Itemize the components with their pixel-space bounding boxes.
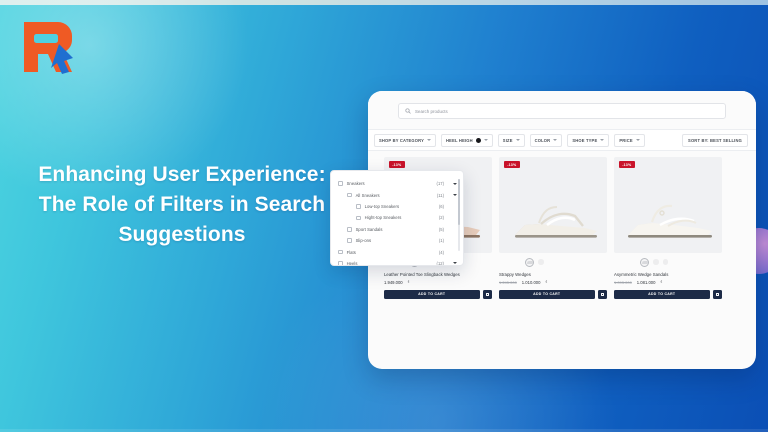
hero-banner: Enhancing User Experience: The Role of F… (0, 0, 768, 432)
checkbox-icon[interactable] (347, 227, 352, 232)
filter-label: COLOR (535, 138, 551, 143)
price-current: 1.949.000 (384, 280, 403, 285)
filter-option-label: Sneakers (347, 181, 365, 186)
product-image[interactable]: -13% (499, 157, 607, 253)
search-icon (405, 108, 411, 114)
cart-row: ADD TO CART (499, 290, 607, 300)
price-currency: ₫ (408, 280, 410, 284)
add-to-cart-label: ADD TO CART (648, 292, 675, 296)
color-swatches[interactable] (499, 253, 607, 271)
checkbox-icon[interactable] (338, 181, 343, 186)
price-current: 1.081.000 (637, 280, 656, 285)
filter-label: PRICE (619, 138, 632, 143)
chevron-down-icon (427, 139, 431, 141)
chevron-down-icon (516, 139, 520, 141)
filter-active-dot (476, 138, 481, 143)
chevron-down-icon[interactable] (453, 194, 457, 196)
chevron-down-icon (636, 139, 640, 141)
filter-option-row[interactable]: Sport Sandals (5) (338, 224, 457, 235)
filter-option-row[interactable]: Low-top Sneakers (6) (338, 201, 457, 212)
swatch-light[interactable] (640, 258, 649, 267)
chevron-down-icon (600, 139, 604, 141)
color-swatches[interactable] (614, 253, 722, 271)
square-icon (716, 293, 719, 296)
filter-option-count: (12) (437, 261, 444, 266)
checkbox-icon[interactable] (356, 216, 361, 221)
filter-option-label: Flats (347, 250, 356, 255)
swatch-light[interactable] (653, 259, 659, 265)
checkbox-icon[interactable] (347, 193, 352, 198)
filter-size[interactable]: SIZE (498, 134, 525, 147)
filter-option-count: (17) (437, 181, 444, 186)
filter-label: SIZE (503, 138, 513, 143)
checkbox-icon[interactable] (338, 250, 343, 255)
discount-badge: -13% (504, 161, 520, 168)
strappy-wedge-illustration (499, 185, 607, 247)
product-price: 1.093.000 1.081.000 ₫ (614, 280, 722, 285)
checkbox-icon[interactable] (347, 238, 352, 243)
product-price: 1.245.000 1.010.000 ₫ (499, 280, 607, 285)
asymmetric-wedge-illustration (614, 185, 722, 247)
discount-badge: -13% (389, 161, 405, 168)
filter-option-count: (4) (439, 250, 444, 255)
product-card[interactable]: -13% (614, 157, 722, 299)
filter-heel-heigh[interactable]: HEEL HEIGH (441, 134, 493, 147)
product-name: Strappy Wedges (499, 272, 607, 277)
er-logo-icon (12, 14, 82, 80)
filter-option-row[interactable]: All Sneakers (11) (338, 189, 457, 200)
filter-option-count: (2) (439, 215, 444, 220)
filter-bar: SHOP BY CATEGORY HEEL HEIGH SIZE COLOR (368, 129, 756, 151)
filter-option-count: (1) (439, 238, 444, 243)
filter-option-label: Hight-top Sneakers (365, 215, 402, 220)
chevron-placeholder-icon (453, 205, 457, 207)
filter-option-label: Slip-ons (356, 238, 372, 243)
discount-badge: -13% (619, 161, 635, 168)
chevron-placeholder-icon (453, 228, 457, 230)
filter-label: HEEL HEIGH (446, 138, 473, 143)
product-name: Leather Pointed Toe Slingback Wedges (384, 272, 492, 277)
filter-option-count: (11) (437, 193, 444, 198)
add-to-cart-label: ADD TO CART (533, 292, 560, 296)
quick-view-button[interactable] (598, 290, 608, 300)
price-currency: ₫ (660, 280, 662, 284)
price-original: 1.245.000 (499, 280, 517, 285)
chevron-placeholder-icon (453, 240, 457, 242)
filter-shop-by-category[interactable]: SHOP BY CATEGORY (374, 134, 436, 147)
search-placeholder: Search products (415, 109, 448, 114)
filter-label: SHOE TYPE (572, 138, 597, 143)
product-name: Asymmetric Wedge Sandals (614, 272, 722, 277)
price-current: 1.010.000 (522, 280, 541, 285)
filter-option-label: Heels (347, 261, 358, 266)
er-logo[interactable] (12, 14, 82, 80)
add-to-cart-button[interactable]: ADD TO CART (499, 290, 595, 300)
swatch-light[interactable] (525, 258, 534, 267)
filter-price[interactable]: PRICE (614, 134, 644, 147)
quick-view-button[interactable] (713, 290, 723, 300)
cart-row: ADD TO CART (384, 290, 492, 300)
product-card[interactable]: -13% Strappy We (499, 157, 607, 299)
dropdown-scrollbar[interactable] (458, 179, 460, 251)
product-price: 1.949.000 ₫ (384, 280, 492, 285)
filter-color[interactable]: COLOR (530, 134, 563, 147)
square-icon (601, 293, 604, 296)
filter-shoe-type[interactable]: SHOE TYPE (567, 134, 609, 147)
quick-view-button[interactable] (483, 290, 493, 300)
filter-option-row[interactable]: Slip-ons (1) (338, 235, 457, 246)
cart-row: ADD TO CART (614, 290, 722, 300)
checkbox-icon[interactable] (356, 204, 361, 209)
swatch-light[interactable] (663, 259, 669, 265)
price-currency: ₫ (545, 280, 547, 284)
sort-by-label: SORT BY: BEST SELLING (688, 138, 742, 143)
chevron-placeholder-icon (453, 251, 457, 253)
filter-option-label: Sport Sandals (356, 227, 383, 232)
filter-option-count: (6) (439, 204, 444, 209)
add-to-cart-button[interactable]: ADD TO CART (614, 290, 710, 300)
add-to-cart-button[interactable]: ADD TO CART (384, 290, 480, 300)
product-image[interactable]: -13% (614, 157, 722, 253)
filter-option-row[interactable]: Hight-top Sneakers (2) (338, 212, 457, 223)
chevron-down-icon[interactable] (453, 183, 457, 185)
checkbox-icon[interactable] (338, 261, 343, 266)
search-input[interactable]: Search products (398, 103, 726, 119)
filter-label: SHOP BY CATEGORY (379, 138, 424, 143)
chevron-down-icon (484, 139, 488, 141)
sort-by-control[interactable]: SORT BY: BEST SELLING (682, 134, 748, 147)
chevron-down-icon[interactable] (453, 262, 457, 264)
page-title: Enhancing User Experience: The Role of F… (38, 160, 326, 249)
category-filter-dropdown[interactable]: Sneakers (17) All Sneakers (11) Low-top … (330, 170, 464, 266)
chevron-placeholder-icon (453, 217, 457, 219)
square-icon (486, 293, 489, 296)
price-original: 1.093.000 (614, 280, 632, 285)
filter-option-row[interactable]: Heels (12) (338, 258, 457, 266)
add-to-cart-label: ADD TO CART (418, 292, 445, 296)
filter-option-count: (5) (439, 227, 444, 232)
chevron-down-icon (553, 139, 557, 141)
filter-option-label: Low-top Sneakers (365, 204, 400, 209)
swatch-light[interactable] (538, 259, 544, 265)
filter-option-row[interactable]: Flats (4) (338, 246, 457, 257)
filter-option-label: All Sneakers (356, 193, 380, 198)
filter-option-row[interactable]: Sneakers (17) (338, 178, 457, 189)
search-row: Search products (368, 91, 756, 119)
